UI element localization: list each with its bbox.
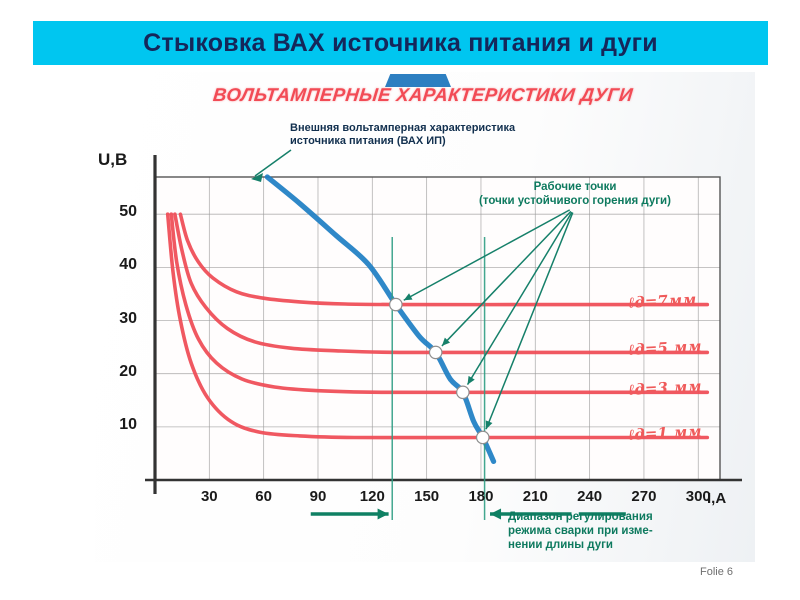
annotation-range-line3: нении длины дуги <box>508 538 698 552</box>
figure-title: ВОЛЬТАМПЕРНЫЕ ХАРАКТЕРИСТИКИ ДУГИ <box>172 84 674 106</box>
annotation-source-curve-text: Внешняя вольтамперная характеристика ист… <box>290 122 515 147</box>
working-point <box>477 431 489 443</box>
x-tick-240: 240 <box>570 488 610 505</box>
x-tick-60: 60 <box>244 488 284 505</box>
annotation-range-line1: Диапазон регулирования <box>508 510 698 524</box>
x-tick-180: 180 <box>461 488 501 505</box>
annotation-working-points-line2: (точки устойчивого горения дуги) <box>425 194 725 208</box>
working-point <box>429 346 441 358</box>
y-tick-50: 50 <box>107 203 137 221</box>
x-tick-150: 150 <box>407 488 447 505</box>
y-axis-label: U,B <box>98 150 127 170</box>
annotation-working-points-line1: Рабочие точки <box>425 180 725 194</box>
x-tick-90: 90 <box>298 488 338 505</box>
annotation-regulation-range: Диапазон регулирования режима сварки при… <box>508 510 698 552</box>
x-tick-120: 120 <box>352 488 392 505</box>
page-title: Стыковка ВАХ источника питания и дуги <box>143 29 658 58</box>
annotation-source-curve: Внешняя вольтамперная характеристика ист… <box>290 122 560 149</box>
y-tick-40: 40 <box>107 256 137 274</box>
chart-figure: ВОЛЬТАМПЕРНЫЕ ХАРАКТЕРИСТИКИ ДУГИ Внешня… <box>95 72 755 562</box>
annotation-working-points: Рабочие точки (точки устойчивого горения… <box>425 180 725 209</box>
slide-footer: Folie 6 <box>700 566 733 578</box>
x-tick-300: 300 <box>678 488 718 505</box>
x-tick-210: 210 <box>515 488 555 505</box>
y-tick-10: 10 <box>107 416 137 434</box>
working-point <box>457 386 469 398</box>
annotation-range-line2: режима сварки при изме- <box>508 524 698 538</box>
x-tick-270: 270 <box>624 488 664 505</box>
x-tick-30: 30 <box>189 488 229 505</box>
y-tick-30: 30 <box>107 310 137 328</box>
working-point <box>390 298 402 310</box>
slide-title-banner: Стыковка ВАХ источника питания и дуги <box>33 21 768 65</box>
y-tick-20: 20 <box>107 363 137 381</box>
curve-label-1: ℓд=7мм <box>628 290 697 313</box>
